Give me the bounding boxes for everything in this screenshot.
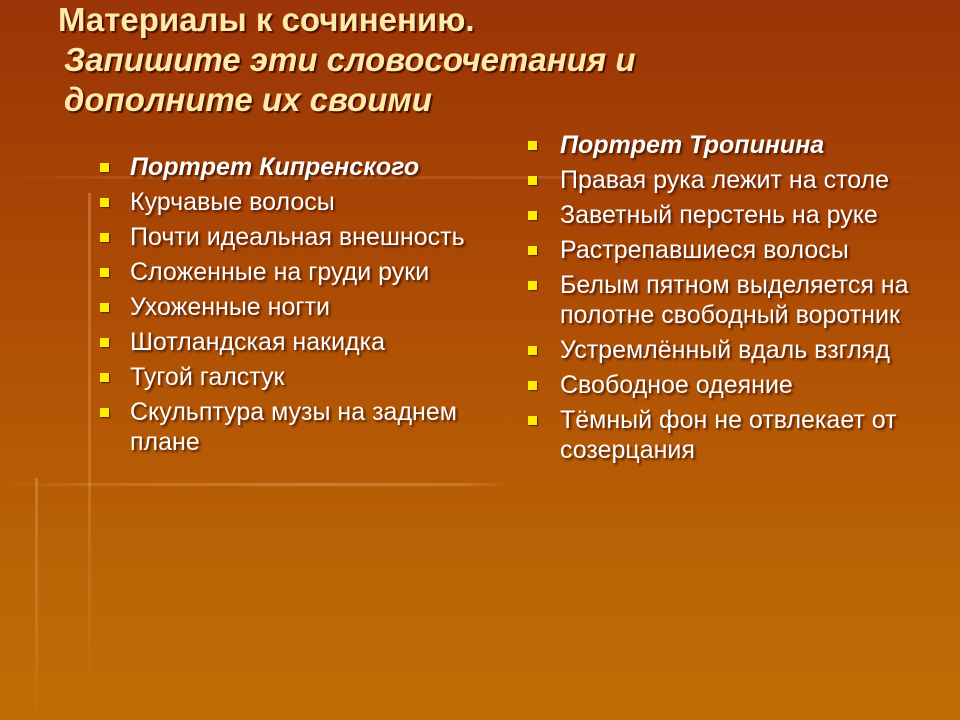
square-bullet-icon (100, 198, 109, 207)
list-item-label: Белым пятном выделяется на полотне свобо… (560, 271, 909, 329)
list-item-label: Тугой галстук (130, 363, 284, 391)
list-item-label: Правая рука лежит на столе (560, 166, 889, 194)
title-line-1: Материалы к сочинению. (58, 0, 938, 40)
square-bullet-icon (100, 268, 109, 277)
square-bullet-icon (100, 408, 109, 417)
square-bullet-icon (528, 346, 537, 355)
left-bullet-column: Портрет Кипренского Курчавые волосы Почт… (90, 152, 490, 462)
list-item-label: Заветный перстень на руке (560, 201, 878, 229)
list-item-label: Курчавые волосы (130, 188, 335, 216)
square-bullet-icon (528, 281, 537, 290)
list-item: Почти идеальная внешность (90, 222, 490, 252)
list-item: Портрет Тропинина (518, 130, 928, 160)
list-item-label: Тёмный фон не отвлекает от созерцания (560, 406, 897, 464)
square-bullet-icon (528, 211, 537, 220)
list-item-label: Растрепавшиеся волосы (560, 236, 849, 264)
list-item-label: Свободное одеяние (560, 371, 793, 399)
decorative-horizontal-line (0, 483, 505, 486)
list-item-label: Ухоженные ногти (130, 293, 330, 321)
list-item: Белым пятном выделяется на полотне свобо… (518, 270, 928, 330)
list-item: Портрет Кипренского (90, 152, 490, 182)
square-bullet-icon (100, 303, 109, 312)
presentation-slide: Материалы к сочинению. Запишите эти слов… (0, 0, 960, 720)
list-item-label: Почти идеальная внешность (130, 223, 465, 251)
list-item: Заветный перстень на руке (518, 200, 928, 230)
square-bullet-icon (100, 233, 109, 242)
list-item: Тёмный фон не отвлекает от созерцания (518, 405, 928, 465)
square-bullet-icon (528, 381, 537, 390)
square-bullet-icon (100, 373, 109, 382)
list-item-label: Скульптура музы на заднем плане (130, 398, 457, 456)
square-bullet-icon (528, 416, 537, 425)
list-item: Сложенные на груди руки (90, 257, 490, 287)
list-item: Ухоженные ногти (90, 292, 490, 322)
list-item-label: Сложенные на груди руки (130, 258, 429, 286)
square-bullet-icon (528, 246, 537, 255)
list-item-label: Устремлённый вдаль взгляд (560, 336, 890, 364)
list-item: Правая рука лежит на столе (518, 165, 928, 195)
list-item-label: Портрет Тропинина (560, 131, 824, 159)
list-item: Устремлённый вдаль взгляд (518, 335, 928, 365)
list-item: Тугой галстук (90, 362, 490, 392)
list-item-label: Шотландская накидка (130, 328, 385, 356)
square-bullet-icon (528, 176, 537, 185)
list-item-label: Портрет Кипренского (130, 153, 419, 181)
square-bullet-icon (528, 141, 537, 150)
decorative-vertical-line-lower (35, 478, 38, 720)
right-bullet-column: Портрет Тропинина Правая рука лежит на с… (518, 130, 928, 470)
square-bullet-icon (100, 163, 109, 172)
list-item: Скульптура музы на заднем плане (90, 397, 490, 457)
list-item: Растрепавшиеся волосы (518, 235, 928, 265)
list-item: Курчавые волосы (90, 187, 490, 217)
title-line-3: дополните их своими (58, 80, 938, 120)
title-line-2: Запишите эти словосочетания и (58, 40, 938, 80)
list-item: Свободное одеяние (518, 370, 928, 400)
square-bullet-icon (100, 338, 109, 347)
list-item: Шотландская накидка (90, 327, 490, 357)
slide-title: Материалы к сочинению. Запишите эти слов… (58, 0, 938, 120)
